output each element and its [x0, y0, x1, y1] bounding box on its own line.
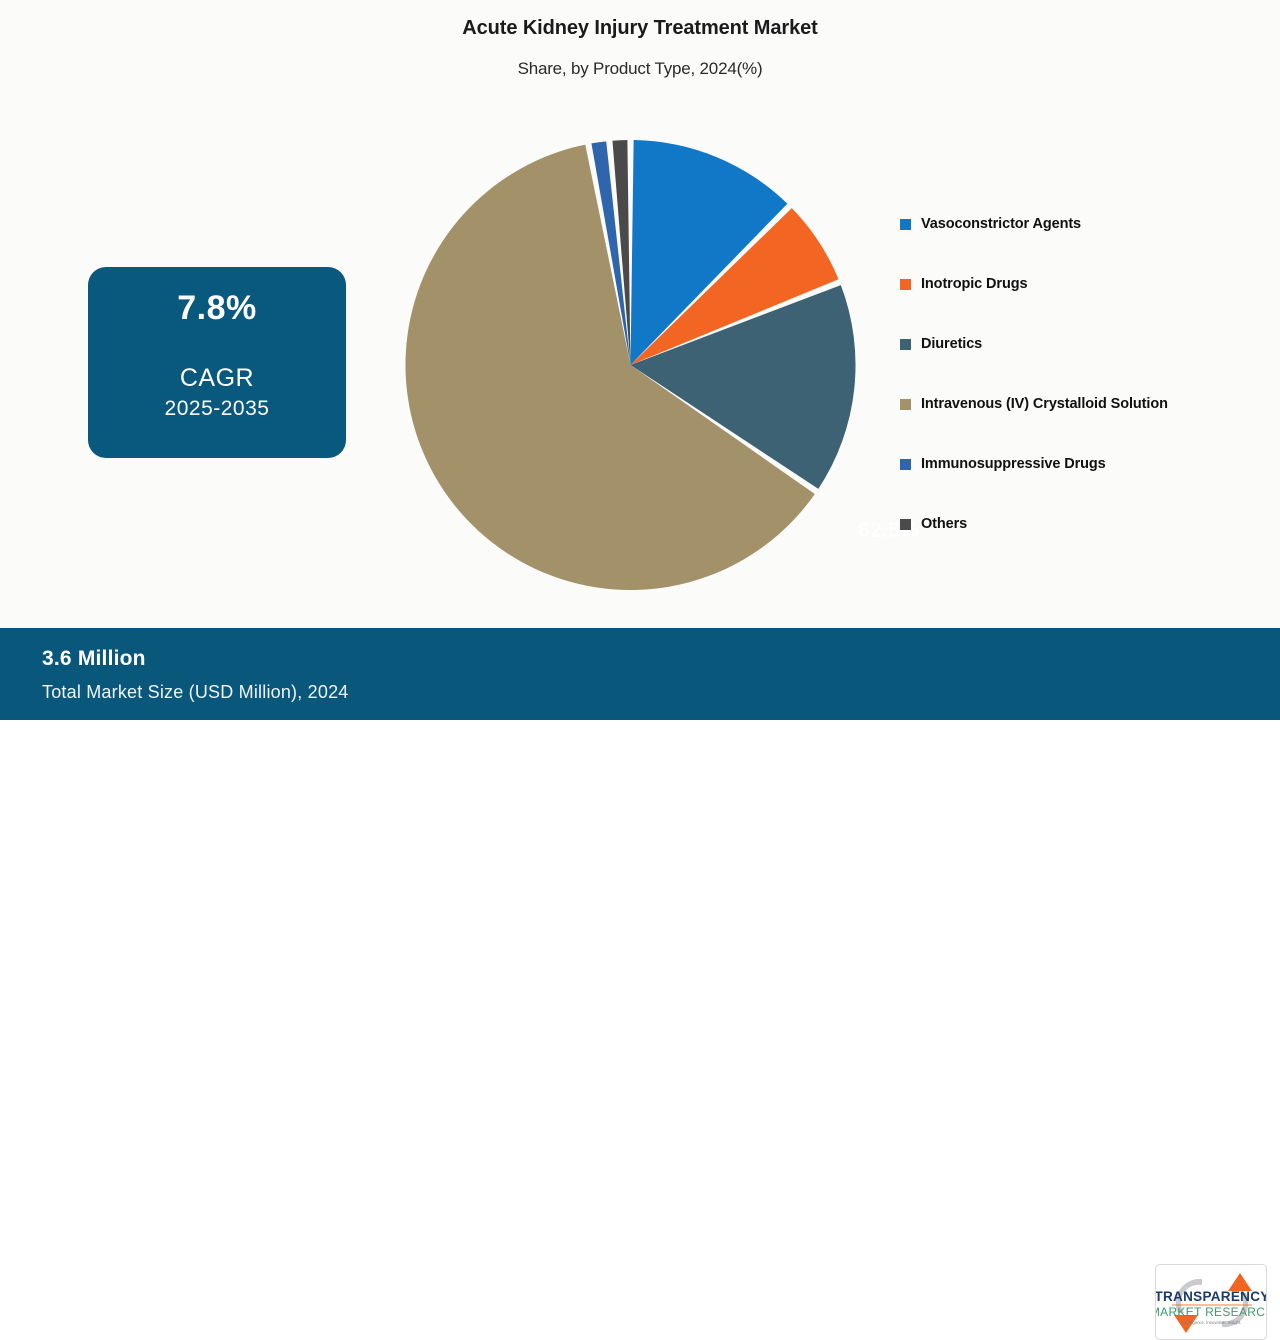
chart-legend: Vasoconstrictor AgentsInotropic DrugsDiu…	[900, 214, 1250, 574]
pie-slice-group	[405, 140, 855, 590]
legend-swatch-icon	[900, 459, 911, 470]
footer-bar: 3.6 Million Total Market Size (USD Milli…	[0, 628, 1280, 720]
legend-item[interactable]: Intravenous (IV) Crystalloid Solution	[900, 394, 1250, 414]
page-subtitle: Share, by Product Type, 2024(%)	[0, 59, 1280, 79]
legend-item-label: Diuretics	[921, 336, 982, 352]
legend-item[interactable]: Immunosuppressive Drugs	[900, 454, 1250, 474]
pie-chart: 62.5%	[388, 125, 873, 610]
cagr-period: 2025-2035	[165, 397, 270, 421]
legend-item[interactable]: Diuretics	[900, 334, 1250, 354]
legend-swatch-icon	[900, 339, 911, 350]
legend-swatch-icon	[900, 519, 911, 530]
chart-canvas: Acute Kidney Injury Treatment Market Sha…	[0, 0, 1280, 720]
logo-line1: TRANSPARENCY	[1156, 1289, 1267, 1304]
legend-swatch-icon	[900, 219, 911, 230]
logo-line2: MARKET RESEARCH	[1156, 1305, 1267, 1319]
legend-swatch-icon	[900, 279, 911, 290]
legend-item-label: Inotropic Drugs	[921, 276, 1027, 292]
legend-item[interactable]: Others	[900, 514, 1250, 534]
cagr-label: CAGR	[180, 364, 254, 393]
company-logo: TRANSPARENCY MARKET RESEARCH Intelligenc…	[1155, 1264, 1267, 1340]
pie-chart-svg	[388, 125, 873, 610]
legend-item[interactable]: Inotropic Drugs	[900, 274, 1250, 294]
legend-item-label: Immunosuppressive Drugs	[921, 456, 1106, 472]
cagr-badge: 7.8% CAGR 2025-2035	[88, 267, 346, 458]
legend-item-label: Others	[921, 516, 967, 532]
company-logo-svg: TRANSPARENCY MARKET RESEARCH Intelligenc…	[1156, 1265, 1267, 1340]
legend-item-label: Intravenous (IV) Crystalloid Solution	[921, 396, 1168, 412]
cagr-value: 7.8%	[177, 289, 257, 328]
footer-market-size-value: 3.6 Million	[42, 647, 146, 671]
footer-market-size-caption: Total Market Size (USD Million), 2024	[42, 682, 349, 703]
legend-item[interactable]: Vasoconstrictor Agents	[900, 214, 1250, 234]
page-title: Acute Kidney Injury Treatment Market	[0, 17, 1280, 40]
legend-item-label: Vasoconstrictor Agents	[921, 216, 1081, 232]
legend-swatch-icon	[900, 399, 911, 410]
logo-tagline: Intelligence. Innovation. Insight.	[1183, 1320, 1242, 1325]
